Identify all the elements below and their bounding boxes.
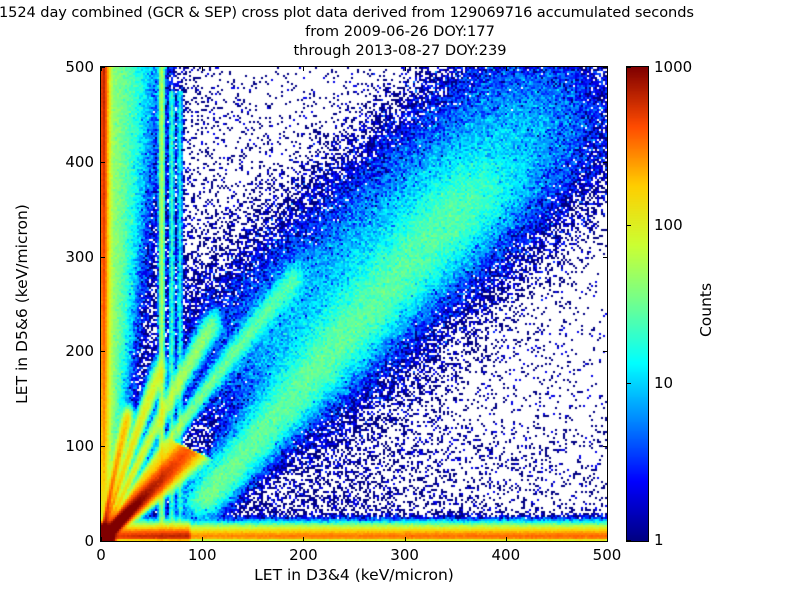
colorbar-tick-mark [627, 225, 631, 226]
x-tick-label: 200 [289, 546, 318, 564]
y-tick-mark [101, 446, 105, 447]
x-tick-label: 300 [390, 546, 419, 564]
y-tick-mark-right [603, 541, 607, 542]
y-tick-label-text: 400 [65, 153, 94, 171]
x-tick-mark [202, 537, 203, 541]
y-tick-mark-right [603, 446, 607, 447]
colorbar-label: Counts [697, 283, 715, 337]
chart-title: 1524 day combined (GCR & SEP) cross plot… [0, 3, 800, 60]
x-tick-mark-top [202, 67, 203, 71]
x-tick-mark [506, 537, 507, 541]
colorbar-gradient [627, 67, 648, 541]
colorbar-tick-label: 1000 [654, 58, 692, 76]
density-heatmap [101, 67, 607, 541]
y-tick-mark [101, 257, 105, 258]
colorbar-tick-label: 100 [654, 216, 683, 234]
colorbar [626, 66, 649, 542]
x-tick-label: 500 [593, 546, 622, 564]
x-tick-mark-top [506, 67, 507, 71]
chart-title-line-2: from 2009-06-26 DOY:177 [0, 22, 800, 41]
x-axis-label: LET in D3&4 (keV/micron) [100, 566, 608, 584]
colorbar-tick-label: 1 [654, 531, 664, 549]
y-tick-label-text: 500 [65, 58, 94, 76]
x-tick-mark-top [607, 67, 608, 71]
y-tick-mark-right [603, 67, 607, 68]
y-tick-label-text: 200 [65, 342, 94, 360]
colorbar-tick-mark [627, 383, 631, 384]
y-tick-mark [101, 162, 105, 163]
y-tick-mark-right [603, 257, 607, 258]
x-tick-mark [607, 537, 608, 541]
x-tick-mark-top [405, 67, 406, 71]
y-tick-mark-right [603, 351, 607, 352]
x-tick-label: 0 [96, 546, 106, 564]
chart-title-line-1: 1524 day combined (GCR & SEP) cross plot… [0, 3, 800, 22]
y-tick-label-text: 100 [65, 437, 94, 455]
y-axis-label: LET in D5&6 (keV/micron) [13, 204, 31, 404]
colorbar-tick-label: 10 [654, 374, 673, 392]
x-tick-label: 400 [491, 546, 520, 564]
y-tick-label-text: 300 [65, 248, 94, 266]
figure-canvas: 1524 day combined (GCR & SEP) cross plot… [0, 0, 800, 600]
x-tick-label: 100 [188, 546, 217, 564]
plot-area [100, 66, 608, 542]
y-tick-mark [101, 351, 105, 352]
x-tick-mark [303, 537, 304, 541]
y-tick-label-text: 0 [84, 532, 94, 550]
x-tick-mark-top [303, 67, 304, 71]
y-tick-mark [101, 541, 105, 542]
y-tick-mark-right [603, 162, 607, 163]
x-tick-mark [405, 537, 406, 541]
y-tick-mark [101, 67, 105, 68]
colorbar-tick-mark [627, 540, 631, 541]
colorbar-tick-mark [627, 67, 631, 68]
